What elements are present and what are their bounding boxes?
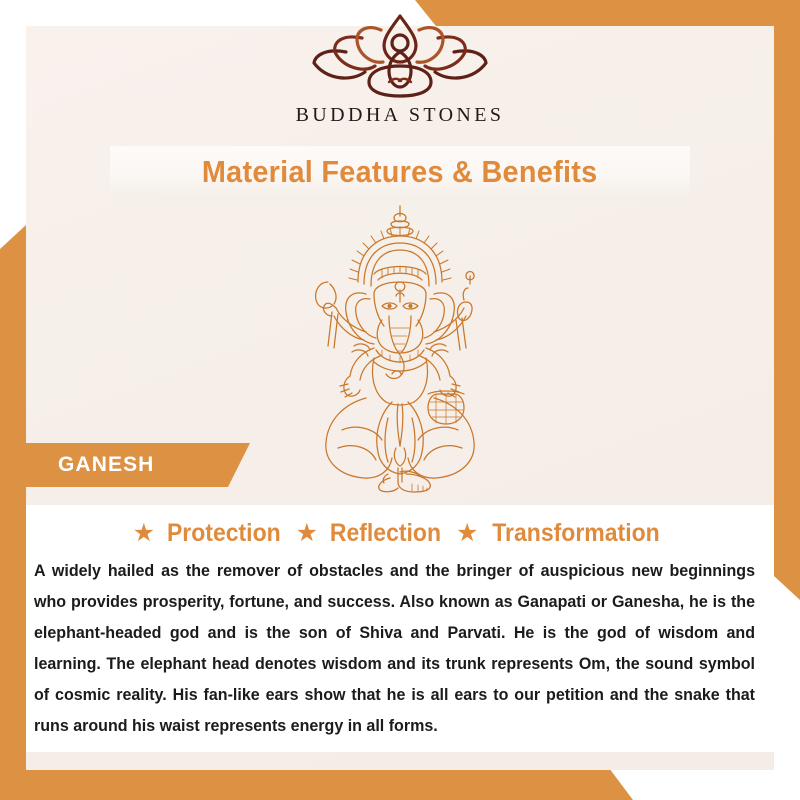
title-banner: Material Features & Benefits [110, 146, 690, 198]
frame-accent-left [0, 225, 26, 770]
content-card: ★ Protection ★ Reflection ★ Transformati… [26, 505, 774, 752]
feature-list: ★ Protection ★ Reflection ★ Transformati… [26, 505, 774, 548]
brand-logo: BUDDHA STONES [0, 8, 800, 127]
feature-item: ★ Transformation [456, 519, 667, 548]
feature-item: ★ Protection [133, 519, 286, 548]
description-paragraph: A widely hailed as the remover of obstac… [34, 556, 755, 742]
feature-label: Reflection [330, 519, 441, 548]
ganesha-line-art-illustration [270, 198, 530, 498]
page-title: Material Features & Benefits [202, 154, 598, 190]
infographic-page: BUDDHA STONES Material Features & Benefi… [0, 0, 800, 800]
lotus-meditation-figure-icon [305, 8, 495, 100]
brand-name: BUDDHA STONES [296, 104, 505, 127]
section-tag-label: GANESH [58, 453, 154, 477]
feature-item: ★ Reflection [296, 519, 446, 548]
feature-label: Protection [167, 519, 281, 548]
feature-label: Transformation [493, 519, 660, 548]
section-tag-ganesh: GANESH [0, 443, 250, 487]
star-icon: ★ [456, 521, 478, 546]
star-icon: ★ [296, 521, 318, 546]
star-icon: ★ [133, 521, 155, 546]
